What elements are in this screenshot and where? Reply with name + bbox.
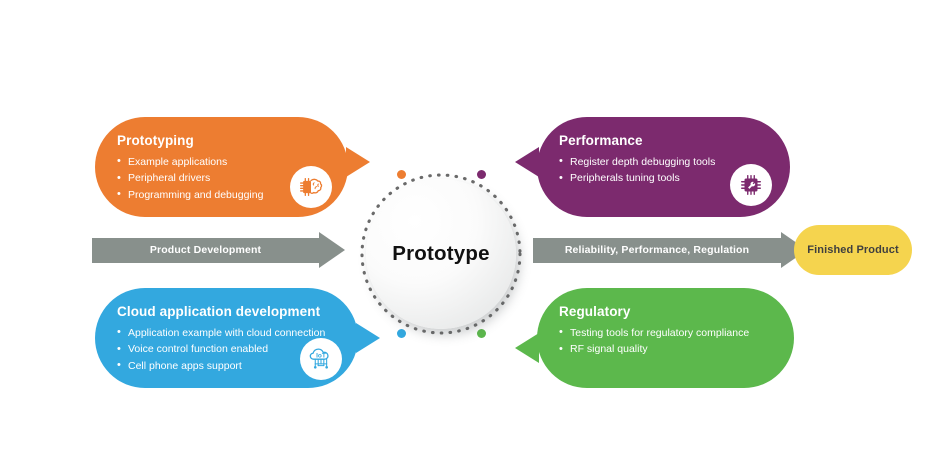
list-item: RF signal quality: [559, 341, 774, 358]
arrow-shaft: Reliability, Performance, Regulation: [533, 238, 781, 263]
bubble-performance-title: Performance: [559, 133, 770, 149]
bubble-regulatory-title: Regulatory: [559, 304, 774, 320]
chip-wrench-icon: [730, 164, 772, 206]
bubble-performance[interactable]: Performance Register depth debugging too…: [537, 117, 790, 217]
svg-text:IoT: IoT: [316, 353, 326, 360]
list-item: Application example with cloud connectio…: [117, 325, 338, 342]
bubble-regulatory[interactable]: Regulatory Testing tools for regulatory …: [537, 288, 794, 388]
prototype-label: Prototype: [392, 242, 489, 266]
arrow-label: Product Development: [150, 244, 261, 256]
arrow-head-icon: [319, 232, 345, 268]
list-item: Example applications: [117, 154, 328, 171]
diagram-canvas: Prototyping Example applications Periphe…: [0, 0, 945, 455]
chip-brain-icon: [290, 166, 332, 208]
iot-cloud-icon: IoT: [300, 338, 342, 380]
arrow-label: Reliability, Performance, Regulation: [565, 244, 749, 256]
ring-dot-performance: [477, 170, 486, 179]
arrow-product-development: Product Development: [92, 232, 345, 268]
ring-dot-prototyping: [397, 170, 406, 179]
finished-product-label: Finished Product: [807, 244, 898, 256]
bubble-prototyping-title: Prototyping: [117, 133, 328, 149]
ring-dot-cloud: [397, 329, 406, 338]
arrow-reliability-performance-regulation: Reliability, Performance, Regulation: [533, 232, 807, 268]
bubble-cloud-title: Cloud application development: [117, 304, 338, 320]
finished-product-pill[interactable]: Finished Product: [794, 225, 912, 275]
bubble-prototyping[interactable]: Prototyping Example applications Periphe…: [95, 117, 348, 217]
ring-dot-regulatory: [477, 329, 486, 338]
list-item: Testing tools for regulatory compliance: [559, 325, 774, 342]
prototype-circle[interactable]: Prototype: [366, 179, 516, 329]
bubble-cloud-application-development[interactable]: Cloud application development Applicatio…: [95, 288, 358, 388]
bubble-regulatory-list: Testing tools for regulatory compliance …: [559, 325, 774, 358]
prototype-center-group: Prototype: [347, 160, 535, 348]
arrow-shaft: Product Development: [92, 238, 319, 263]
